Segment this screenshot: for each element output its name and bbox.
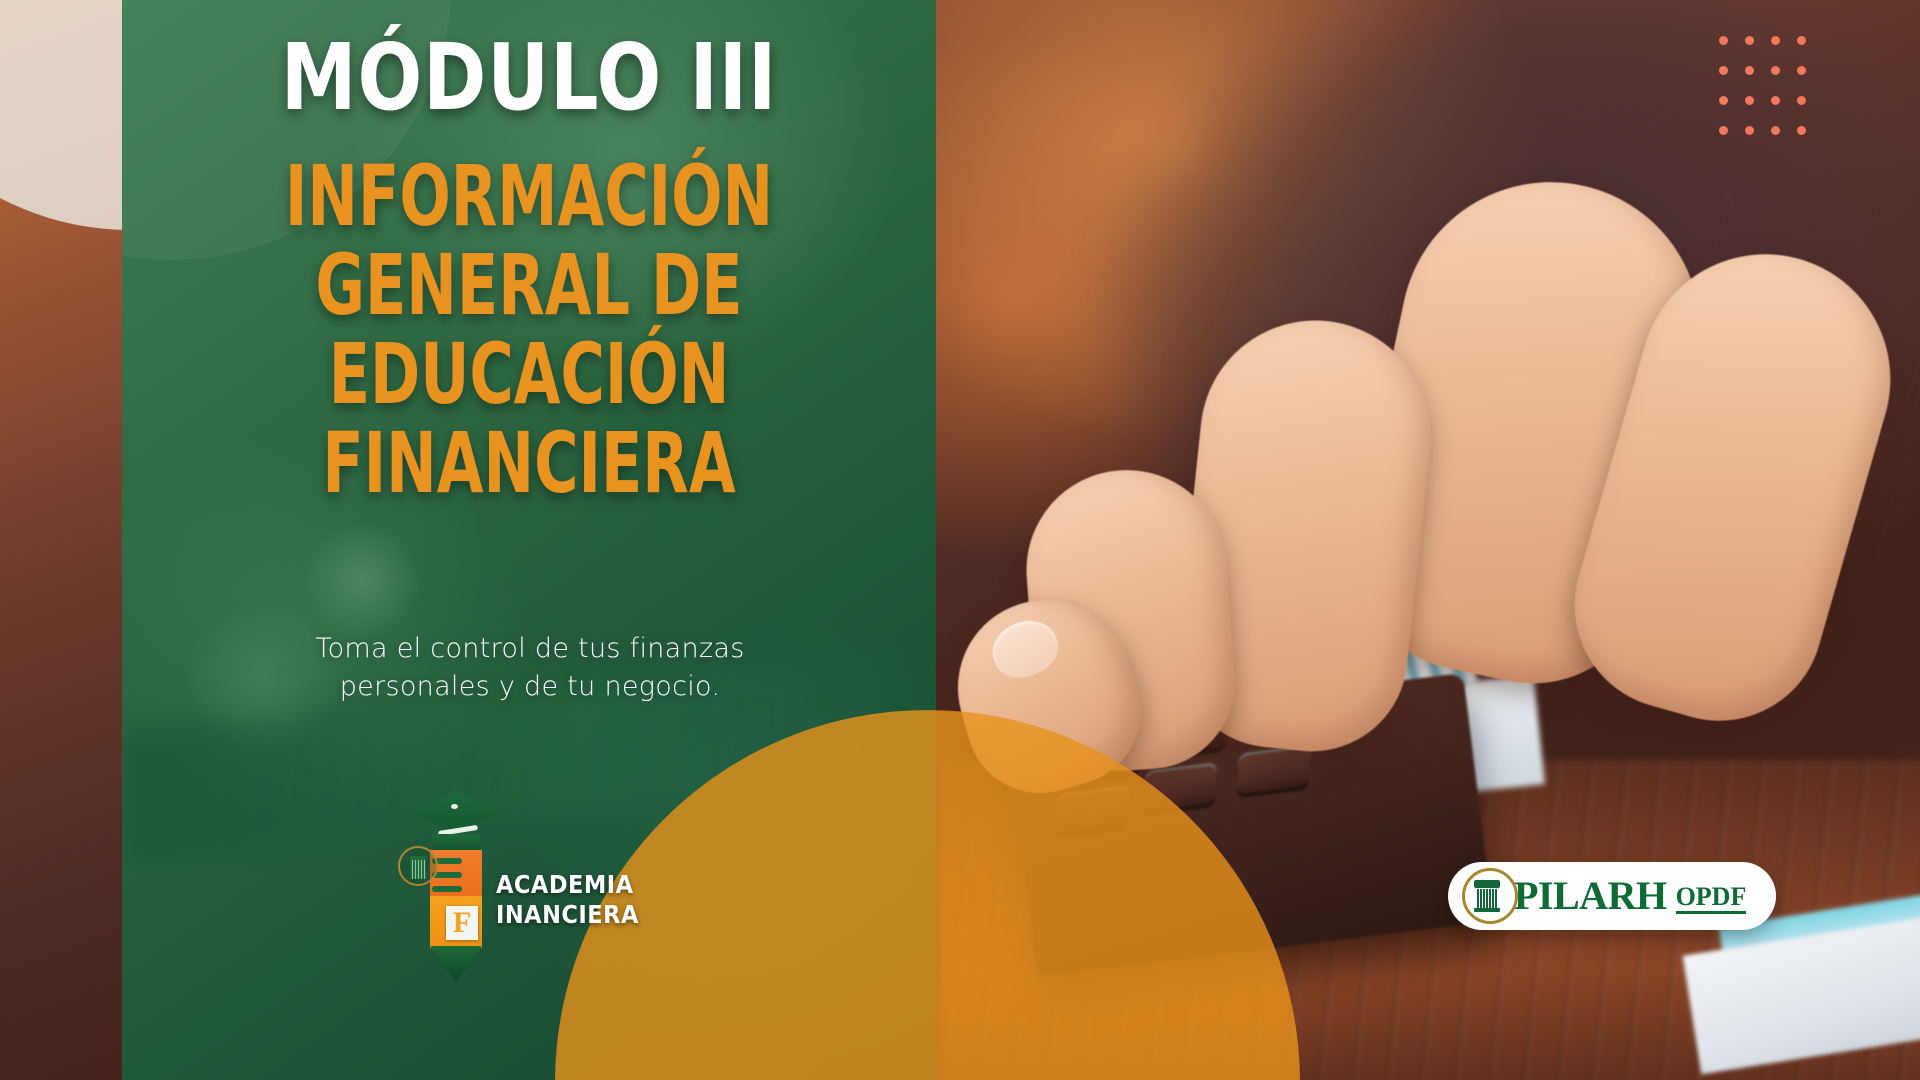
main-heading: INFORMACIÓN GENERAL DE EDUCACIÓN FINANCI… — [203, 152, 854, 508]
academia-logo-line-1: ACADEMIA — [496, 870, 639, 900]
subtitle-line-2: personales y de tu negocio. — [180, 668, 880, 706]
academia-financiera-logo: F ACADEMIA INANCIERA — [392, 792, 622, 982]
graduation-cap-button-icon — [451, 804, 458, 809]
grid-dot — [1745, 36, 1754, 45]
grid-dot — [1745, 96, 1754, 105]
heading-line-2: GENERAL DE — [203, 241, 854, 330]
pencil-orange-upper — [430, 850, 482, 896]
grid-dot — [1797, 96, 1806, 105]
academia-logo-text: ACADEMIA INANCIERA — [496, 870, 639, 930]
promo-banner: 4 00 0 MÓDULO III — [0, 0, 1920, 1080]
pillar-base — [1474, 908, 1500, 912]
grid-dot — [1719, 36, 1728, 45]
pencil-stripe — [432, 886, 462, 892]
academia-logo-line-2: INANCIERA — [496, 900, 639, 930]
module-title: MÓDULO III — [155, 30, 904, 127]
grid-dot — [1771, 66, 1780, 75]
grid-dot — [1719, 126, 1728, 135]
calculator-key — [1237, 745, 1311, 794]
subtitle: Toma el control de tus finanzas personal… — [180, 630, 880, 706]
panel-glow-a — [302, 520, 422, 640]
heading-line-3: EDUCACIÓN — [203, 330, 854, 419]
grid-dot — [1719, 96, 1728, 105]
pilarh-suffix-text: OPDF — [1676, 884, 1747, 914]
dot-grid-decoration — [1719, 36, 1823, 156]
pillar-shaft — [1477, 889, 1497, 909]
monogram-letter: F — [446, 906, 478, 940]
grid-dot — [1797, 126, 1806, 135]
heading-line-1: INFORMACIÓN — [203, 152, 854, 241]
pencil-tip — [430, 946, 482, 982]
pilarh-brand-text: PILARH — [1514, 876, 1667, 916]
pilarh-opdf-logo: PILARH OPDF — [1448, 862, 1776, 930]
column-badge-glyph — [410, 856, 426, 879]
grid-dot — [1797, 36, 1806, 45]
grid-dot — [1745, 66, 1754, 75]
grid-dot — [1771, 126, 1780, 135]
grid-dot — [1745, 126, 1754, 135]
column-badge-icon — [398, 846, 438, 886]
pillar-capital — [1474, 880, 1500, 888]
heading-line-4: FINANCIERA — [203, 419, 854, 508]
pencil-icon: F — [430, 834, 482, 982]
grid-dot — [1771, 96, 1780, 105]
pillar-icon — [1462, 868, 1518, 924]
subtitle-line-1: Toma el control de tus finanzas — [180, 630, 880, 668]
monogram-badge: F — [446, 906, 478, 940]
grid-dot — [1719, 66, 1728, 75]
grid-dot — [1771, 36, 1780, 45]
grid-dot — [1797, 66, 1806, 75]
